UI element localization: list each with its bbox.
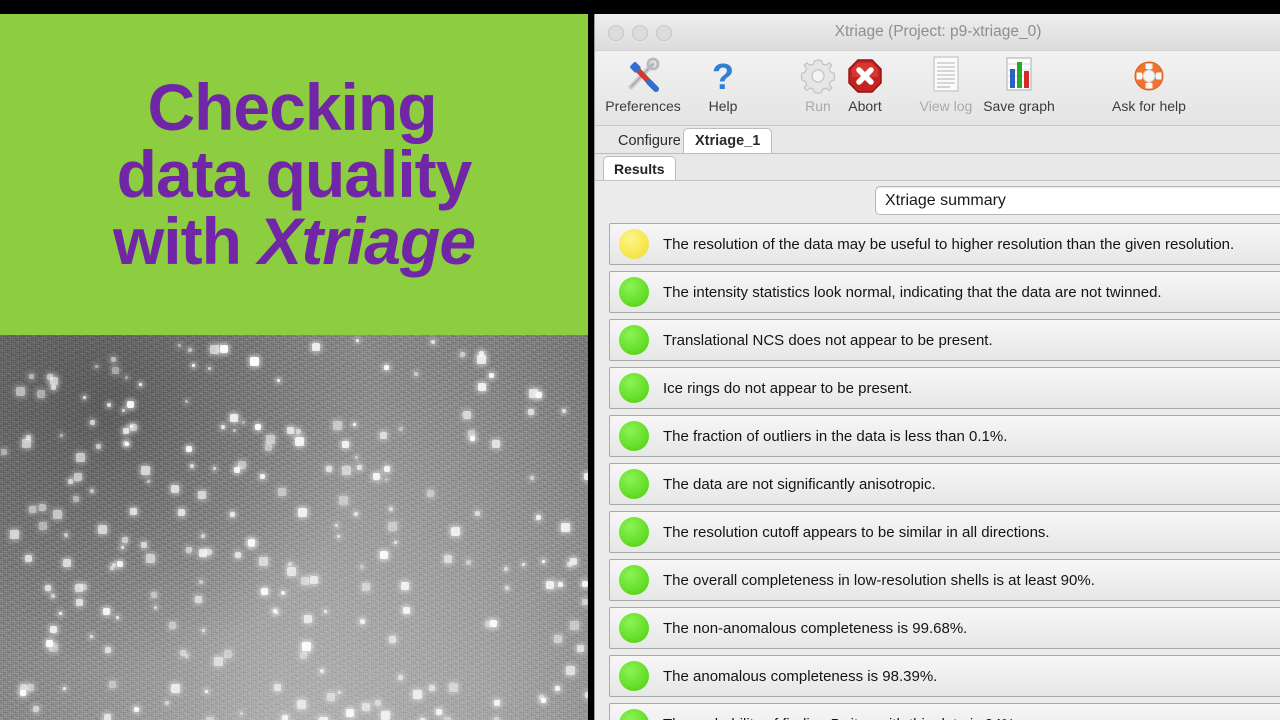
tab-xtriage-1[interactable]: Xtriage_1 [683,128,772,153]
status-ok-icon [619,277,649,307]
result-text: The overall completeness in low-resoluti… [663,572,1095,589]
result-text: The probability of finding 5 sites with … [663,716,1019,720]
window-title: Xtriage (Project: p9-xtriage_0) [595,23,1280,41]
result-row[interactable]: The intensity statistics look normal, in… [609,271,1280,313]
xtriage-window: Xtriage (Project: p9-xtriage_0) Preferen… [594,14,1280,720]
diffraction-noise-layer-2 [0,335,588,720]
stop-octagon-icon [846,53,884,95]
summary-select[interactable]: Xtriage summary [875,186,1280,215]
result-text: Translational NCS does not appear to be … [663,332,993,349]
slide-title-emphasis: Xtriage [258,204,475,278]
diffraction-image [0,335,588,720]
toolbar-label-ask-for-help: Ask for help [1112,98,1186,114]
slide-title-line-3-text: with [113,204,258,278]
result-text: Ice rings do not appear to be present. [663,380,912,397]
main-toolbar: Preferences ? Help [595,51,1280,126]
result-row[interactable]: The resolution of the data may be useful… [609,223,1280,265]
result-text: The intensity statistics look normal, in… [663,284,1162,301]
result-text: The resolution of the data may be useful… [663,236,1234,253]
result-row[interactable]: Translational NCS does not appear to be … [609,319,1280,361]
tab-configure[interactable]: Configure [607,129,692,153]
window-titlebar: Xtriage (Project: p9-xtriage_0) [595,14,1280,51]
toolbar-button-help[interactable]: ? Help [677,53,769,114]
slide-title-card: Checking data quality with Xtriage [0,14,588,335]
toolbar-label-save-graph: Save graph [983,98,1055,114]
result-row[interactable]: The overall completeness in low-resoluti… [609,559,1280,601]
result-text: The anomalous completeness is 98.39%. [663,668,937,685]
result-row[interactable]: The anomalous completeness is 98.39%. [609,655,1280,697]
secondary-tabstrip: Results [595,154,1280,181]
letterbox-top [0,0,1280,14]
bar-chart-icon [1001,53,1037,95]
toolbar-button-ask-for-help[interactable]: Ask for help [1103,53,1195,114]
toolbar-button-preferences[interactable]: Preferences [597,53,689,114]
screenshot-root: Checking data quality with Xtriage Xtria… [0,0,1280,720]
status-ok-icon [619,517,649,547]
life-ring-icon [1129,53,1169,95]
status-ok-icon [619,421,649,451]
svg-text:?: ? [712,56,734,95]
toolbar-button-abort[interactable]: Abort [819,53,911,114]
toolbar-button-save-graph[interactable]: Save graph [973,53,1065,114]
tools-icon [623,53,663,95]
result-text: The non-anomalous completeness is 99.68%… [663,620,967,637]
status-ok-icon [619,709,649,720]
results-list: The resolution of the data may be useful… [595,215,1280,720]
result-row[interactable]: The resolution cutoff appears to be simi… [609,511,1280,553]
result-row[interactable]: Ice rings do not appear to be present. [609,367,1280,409]
status-ok-icon [619,613,649,643]
toolbar-label-help: Help [709,98,738,114]
slide-title-line-1: Checking [147,74,436,141]
result-text: The fraction of outliers in the data is … [663,428,1007,445]
status-ok-icon [619,373,649,403]
slide-title-line-2: data quality [117,141,472,208]
result-row[interactable]: The probability of finding 5 sites with … [609,703,1280,720]
toolbar-label-view-log: View log [920,98,973,114]
result-row[interactable]: The non-anomalous completeness is 99.68%… [609,607,1280,649]
status-warning-icon [619,229,649,259]
question-mark-icon: ? [703,53,743,95]
toolbar-label-preferences: Preferences [605,98,680,114]
slide-title-line-3: with Xtriage [113,208,475,275]
document-icon [928,53,964,95]
slide-panel: Checking data quality with Xtriage [0,14,588,720]
result-text: The resolution cutoff appears to be simi… [663,524,1050,541]
toolbar-label-abort: Abort [848,98,881,114]
status-ok-icon [619,565,649,595]
tab-results[interactable]: Results [603,156,676,180]
result-row[interactable]: The fraction of outliers in the data is … [609,415,1280,457]
status-ok-icon [619,661,649,691]
primary-tabstrip: Configure Xtriage_1 [595,126,1280,154]
result-row[interactable]: The data are not significantly anisotrop… [609,463,1280,505]
status-ok-icon [619,469,649,499]
result-text: The data are not significantly anisotrop… [663,476,936,493]
status-ok-icon [619,325,649,355]
